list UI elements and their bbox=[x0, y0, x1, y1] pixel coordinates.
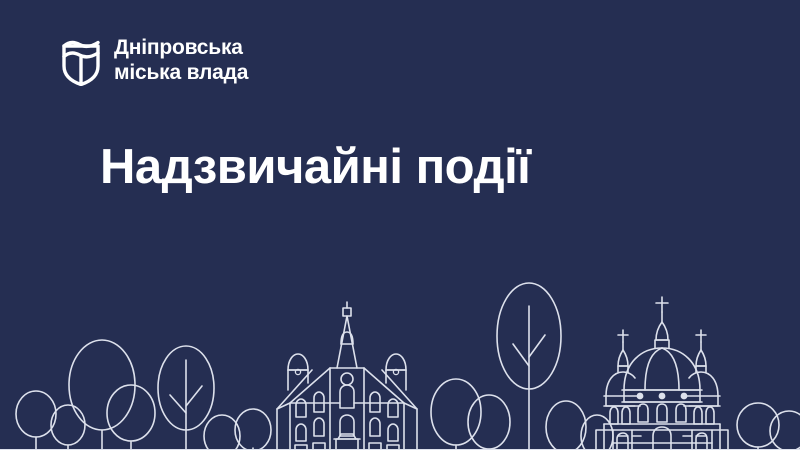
tree-tall-oval-left bbox=[69, 340, 135, 450]
tree-small-pair-left-2 bbox=[235, 409, 271, 450]
logo-line-1: Дніпровська bbox=[114, 36, 248, 61]
tree-round-left bbox=[107, 385, 155, 450]
tree-small-left-2 bbox=[51, 405, 85, 450]
historic-building-with-clock-tower bbox=[277, 302, 417, 450]
tree-oval-center-right-2 bbox=[468, 395, 510, 450]
tree-small-left-1 bbox=[16, 391, 56, 450]
dnipro-cityscape-illustration bbox=[0, 240, 800, 450]
tree-branching-left bbox=[158, 346, 214, 450]
tree-oval-right-1 bbox=[546, 401, 586, 450]
shield-river-logo-icon bbox=[60, 36, 102, 86]
page-title: Надзвичайні події bbox=[100, 141, 530, 195]
logo-wordmark: Дніпровська міська влада bbox=[114, 36, 248, 85]
orthodox-cathedral-three-domes bbox=[596, 297, 728, 450]
dnipro-city-council-logo[interactable]: Дніпровська міська влада bbox=[60, 36, 248, 86]
emergency-events-banner: Дніпровська міська влада Надзвичайні под… bbox=[0, 0, 800, 450]
tree-far-right-1 bbox=[737, 403, 779, 450]
tree-branching-tall-right bbox=[497, 283, 561, 450]
tree-far-right-2 bbox=[770, 411, 800, 450]
logo-line-2: міська влада bbox=[114, 61, 248, 86]
